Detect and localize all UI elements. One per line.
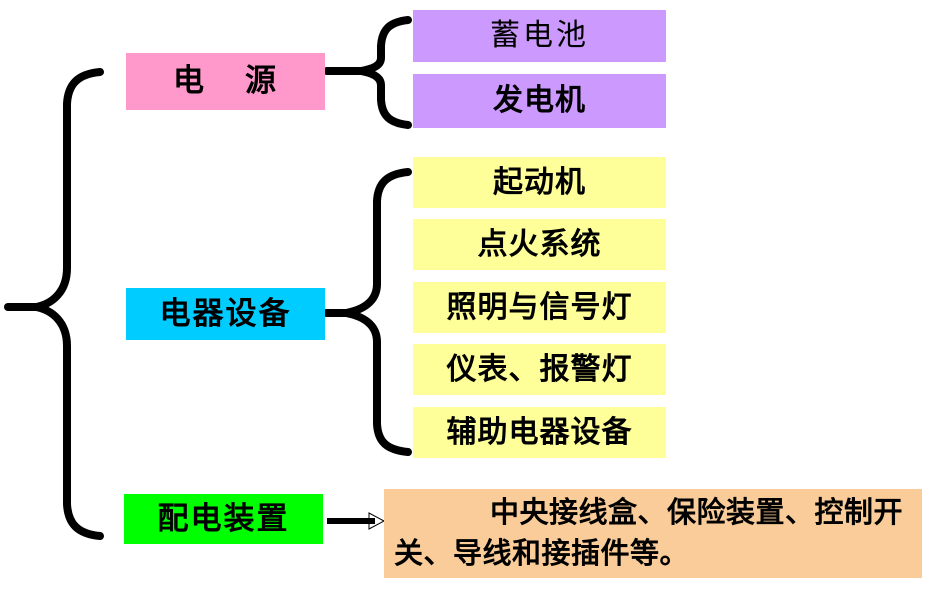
- leaf-box-battery[interactable]: 蓄电池: [413, 10, 666, 62]
- brace-equipment-icon: [326, 172, 408, 452]
- category-box-distribution[interactable]: 配电装置: [124, 494, 323, 544]
- detail-box-distribution-components[interactable]: 中央接线盒、保险装置、控制开关、导线和接插件等。: [384, 489, 922, 578]
- leaf-box-lighting-and-signal-lamps[interactable]: 照明与信号灯: [413, 282, 666, 333]
- brace-main-icon: [8, 72, 100, 536]
- brace-power-icon: [327, 20, 408, 125]
- leaf-box-instruments-and-warning-lamps[interactable]: 仪表、报警灯: [413, 344, 666, 395]
- category-box-power[interactable]: 电 源: [126, 53, 325, 110]
- leaf-box-auxiliary-equipment[interactable]: 辅助电器设备: [413, 407, 666, 458]
- leaf-box-starter[interactable]: 起动机: [413, 157, 666, 208]
- leaf-box-generator[interactable]: 发电机: [413, 74, 666, 128]
- leaf-box-ignition-system[interactable]: 点火系统: [413, 219, 666, 270]
- category-box-equipment[interactable]: 电器设备: [126, 288, 325, 340]
- arrow-right-icon: [327, 513, 384, 529]
- diagram-canvas: 电 源 电器设备 配电装置 蓄电池 发电机 起动机 点火系统 照明与信号灯 仪表…: [0, 0, 931, 607]
